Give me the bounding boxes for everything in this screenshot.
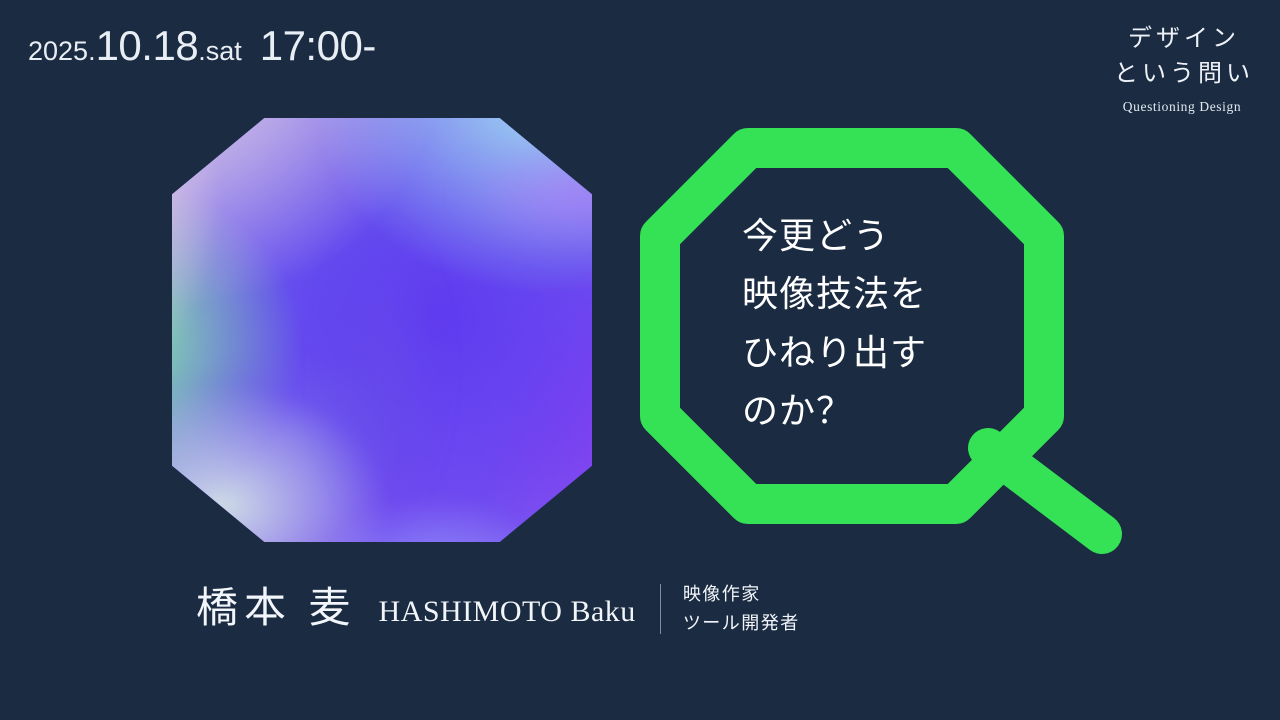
- question-text: 今更どう 映像技法を ひねり出す のか？: [742, 207, 972, 440]
- speaker-credit: 橋本 麦 HASHIMOTO Baku 映像作家 ツール開発者: [196, 580, 800, 638]
- speaker-name-en: HASHIMOTO Baku: [379, 597, 636, 627]
- series-title-line2: という問い: [1110, 57, 1254, 92]
- speaker-divider: [660, 584, 661, 634]
- slide-stage: 2025. 10.18 .sat 17:00- デザイン という問い Quest…: [0, 0, 1280, 720]
- speaker-artwork-octagon: [172, 118, 592, 542]
- question-line-3: ひねり出す: [742, 324, 972, 382]
- question-line-4: のか？: [742, 382, 972, 440]
- speaker-role-1: 映像作家: [683, 580, 800, 609]
- artwork-gradient-accents: [172, 118, 592, 542]
- speaker-roles: 映像作家 ツール開発者: [683, 580, 800, 638]
- event-weekday: .sat: [198, 36, 242, 67]
- event-date: 10.18: [96, 22, 199, 70]
- event-year: 2025.: [28, 36, 96, 67]
- speaker-name-jp: 橋本 麦: [196, 588, 357, 630]
- event-time: 17:00-: [260, 22, 376, 70]
- series-title-line1: デザイン: [1110, 22, 1254, 57]
- series-logo: デザイン という問い Questioning Design: [1110, 22, 1254, 115]
- speaker-role-2: ツール開発者: [683, 609, 800, 638]
- question-line-2: 映像技法を: [742, 265, 972, 323]
- event-datetime: 2025. 10.18 .sat 17:00-: [28, 22, 376, 70]
- q-tail-path: [988, 448, 1102, 534]
- question-line-1: 今更どう: [742, 207, 972, 265]
